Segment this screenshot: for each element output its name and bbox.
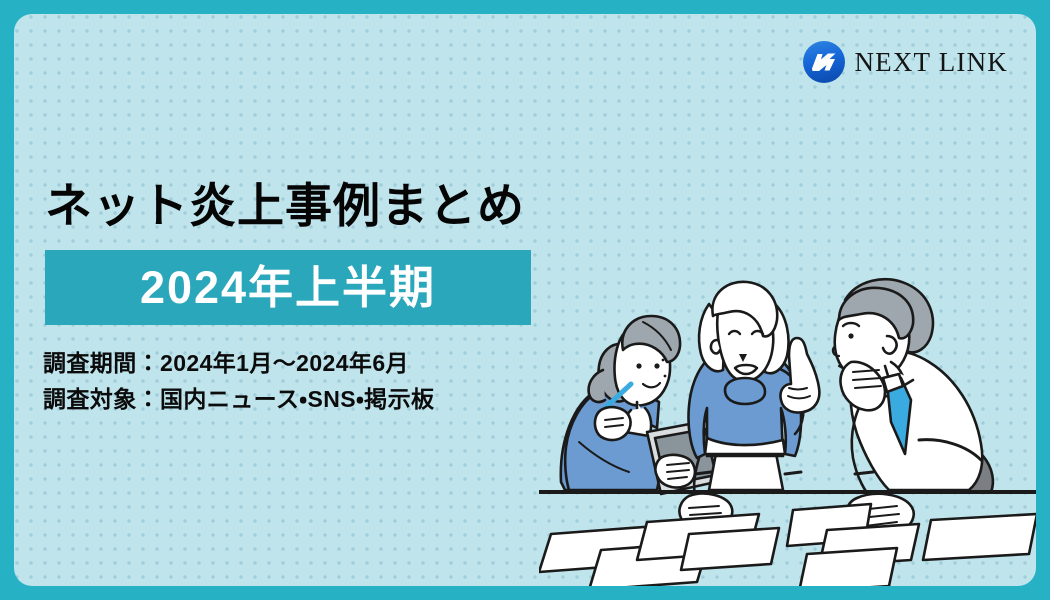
period-banner-label: 2024年上半期 bbox=[140, 265, 436, 310]
slide-canvas: NEXT LINK ネット炎上事例まとめ 2024年上半期 調査期間：2024年… bbox=[0, 0, 1050, 600]
content-panel: NEXT LINK ネット炎上事例まとめ 2024年上半期 調査期間：2024年… bbox=[14, 14, 1036, 586]
period-banner: 2024年上半期 bbox=[45, 250, 531, 325]
page-title: ネット炎上事例まとめ bbox=[45, 180, 525, 232]
meeting-illustration-svg bbox=[539, 242, 1036, 586]
figure-man-thinking bbox=[833, 279, 993, 536]
survey-period-line: 調査期間：2024年1月〜2024年6月 bbox=[43, 346, 434, 382]
meeting-illustration bbox=[539, 242, 1036, 586]
papers-group bbox=[539, 504, 1036, 586]
survey-target-line: 調査対象：国内ニュース・SNS・掲示板 bbox=[43, 382, 434, 418]
next-link-logo-mark-icon bbox=[802, 40, 846, 84]
brand-wordmark: NEXT LINK bbox=[854, 49, 1008, 76]
survey-meta: 調査期間：2024年1月〜2024年6月 調査対象：国内ニュース・SNS・掲示板 bbox=[43, 346, 434, 417]
brand-logo[interactable]: NEXT LINK bbox=[802, 40, 1008, 84]
